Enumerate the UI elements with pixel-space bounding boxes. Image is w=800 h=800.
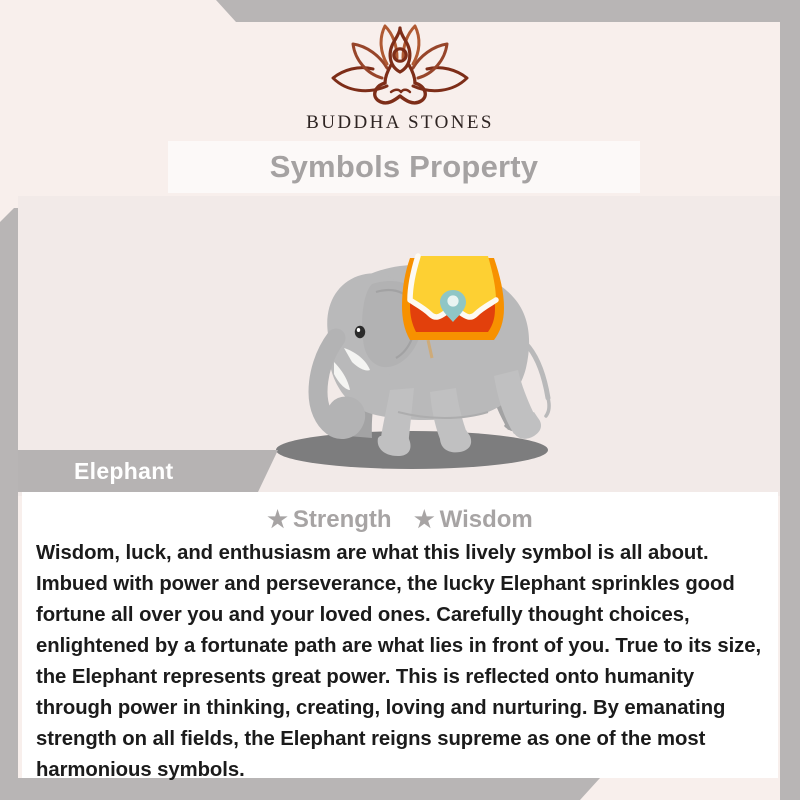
brand-header: BUDDHA STONES xyxy=(0,20,800,142)
top-gray-accent-bar xyxy=(0,0,800,22)
symbol-description-text: Wisdom, luck, and enthusiasm are what th… xyxy=(36,538,766,786)
symbol-name: Elephant xyxy=(74,458,174,485)
attribute-strength: ★Strength xyxy=(267,506,391,534)
brand-name: BUDDHA STONES xyxy=(306,112,494,134)
symbol-property-poster: BUDDHA STONES Symbols Property xyxy=(0,0,800,800)
star-icon: ★ xyxy=(414,506,435,532)
symbol-description-card: ★Strength ★Wisdom Wisdom, luck, and enth… xyxy=(22,492,778,778)
page-title-band: Symbols Property xyxy=(168,141,640,193)
star-icon: ★ xyxy=(267,506,288,532)
lotus-meditation-icon xyxy=(325,20,475,110)
symbol-attributes: ★Strength ★Wisdom xyxy=(22,506,778,534)
walking-elephant-with-saddle-illustration xyxy=(232,222,572,497)
left-gray-accent-strip xyxy=(0,208,18,792)
attribute-strength-label: Strength xyxy=(293,506,392,533)
page-title: Symbols Property xyxy=(270,149,539,185)
attribute-wisdom-label: Wisdom xyxy=(440,506,533,533)
attribute-wisdom: ★Wisdom xyxy=(414,506,533,534)
symbol-name-banner: Elephant xyxy=(18,450,278,492)
